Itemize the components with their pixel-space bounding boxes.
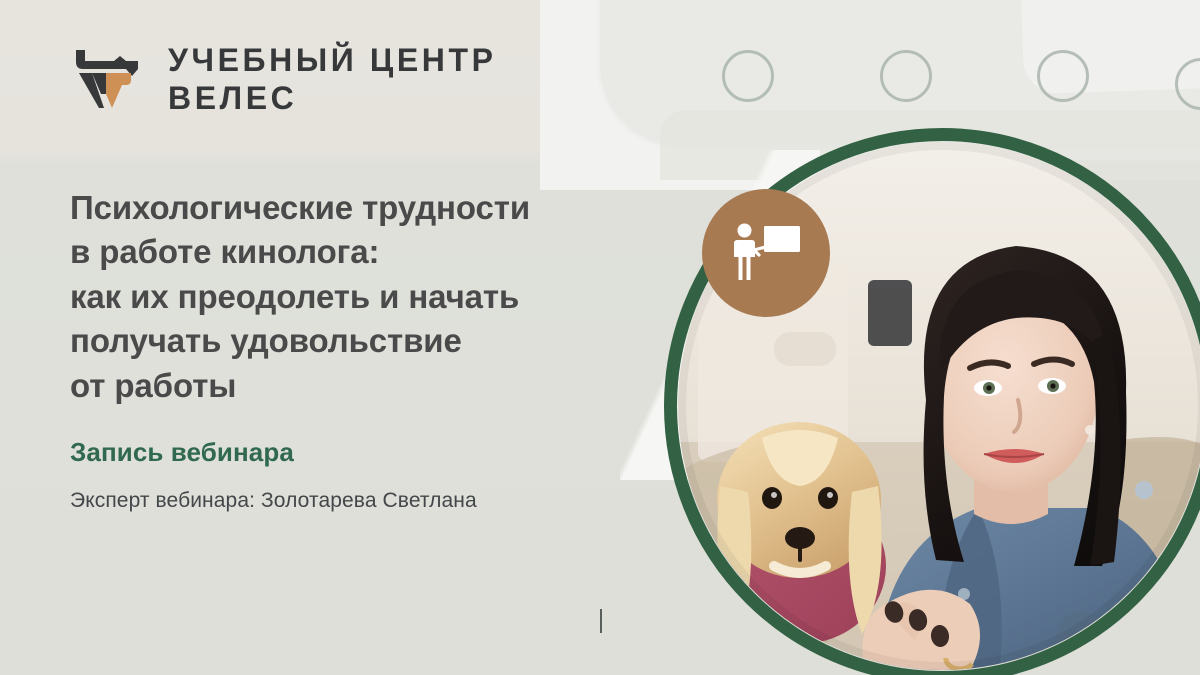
webinar-promo-banner: УЧЕБНЫЙ ЦЕНТР ВЕЛЕС Психологические труд…: [0, 0, 1200, 675]
decor-ring-2-icon: [880, 50, 932, 102]
brand-name: УЧЕБНЫЙ ЦЕНТР ВЕЛЕС: [168, 44, 497, 114]
expert-name-line: Эксперт вебинара: Золотарева Светлана: [70, 489, 477, 513]
presenter-whiteboard-icon: [730, 222, 802, 284]
presenter-badge: [702, 189, 830, 317]
brand-logo[interactable]: УЧЕБНЫЙ ЦЕНТР ВЕЛЕС: [70, 42, 497, 116]
text-caret: [600, 609, 602, 633]
brand-name-line-2: ВЕЛЕС: [168, 82, 497, 115]
page-title: Психологические трудности в работе кинол…: [70, 186, 700, 408]
brand-name-line-1: УЧЕБНЫЙ ЦЕНТР: [168, 44, 497, 77]
decor-ring-1-icon: [722, 50, 774, 102]
decor-ring-3-icon: [1037, 50, 1089, 102]
webinar-record-kicker: Запись вебинара: [70, 437, 294, 468]
bull-head-v-logo-icon: [70, 42, 144, 116]
